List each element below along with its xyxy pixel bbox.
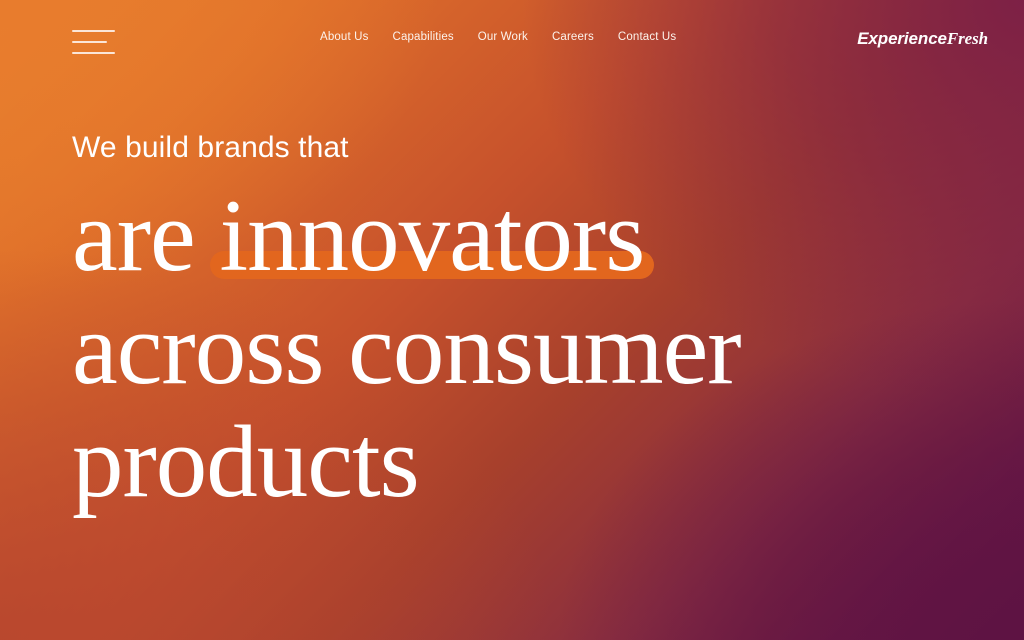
hero-section: We build brands that are innovators acro… <box>72 128 992 519</box>
hamburger-bar-middle <box>72 41 107 43</box>
nav-item-about-us[interactable]: About Us <box>320 29 369 46</box>
nav-item-capabilities[interactable]: Capabilities <box>393 29 454 46</box>
brand-logo[interactable]: ExperienceFresh <box>857 28 988 50</box>
site-header: About Us Capabilities Our Work Careers C… <box>0 0 1024 80</box>
hamburger-bar-bottom <box>72 52 115 54</box>
nav-item-our-work[interactable]: Our Work <box>478 29 528 46</box>
hero-headline-line-3: products <box>72 406 992 519</box>
hero-eyebrow: We build brands that <box>72 128 992 168</box>
hero-headline-line-1: are innovators <box>72 180 992 293</box>
brand-logo-fresh: Fresh <box>947 29 988 48</box>
hero-headline-line-1-prefix: are <box>72 179 219 293</box>
primary-navigation: About Us Capabilities Our Work Careers C… <box>320 29 676 46</box>
hamburger-menu-icon[interactable] <box>72 30 116 54</box>
hero-headline-highlight-word: innovators <box>219 180 644 293</box>
hero-headline-line-2: across consumer <box>72 293 992 406</box>
nav-item-contact-us[interactable]: Contact Us <box>618 29 676 46</box>
brand-logo-experience: Experience <box>857 29 947 48</box>
landing-page: About Us Capabilities Our Work Careers C… <box>0 0 1024 640</box>
hamburger-bar-top <box>72 30 115 32</box>
hero-headline: are innovators across consumer products <box>72 180 992 519</box>
nav-item-careers[interactable]: Careers <box>552 29 594 46</box>
